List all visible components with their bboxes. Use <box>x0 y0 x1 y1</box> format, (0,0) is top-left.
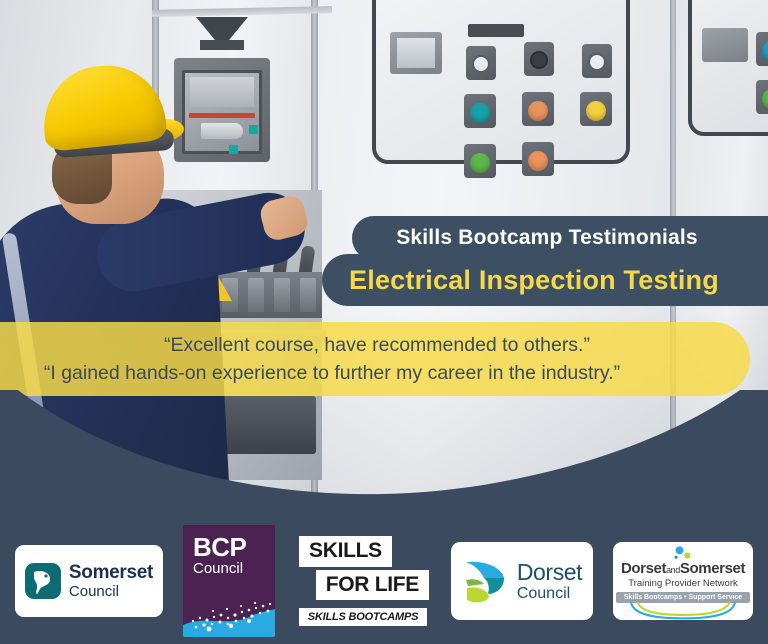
logo-row: Somerset Council BCP Council <box>0 527 768 635</box>
dorset-sub: Council <box>517 586 582 602</box>
dsn-title-a: Dorset <box>621 560 666 577</box>
testimonial-banner: “Excellent course, have recommended to o… <box>0 322 750 396</box>
logo-dorset-council[interactable]: Dorset Council <box>451 542 593 620</box>
dsn-title: DorsetandSomerset <box>621 561 745 576</box>
somerset-name: Somerset <box>69 563 153 582</box>
poster: Skills Bootcamp Testimonials Electrical … <box>0 0 768 644</box>
decorative-wave <box>0 390 768 530</box>
somerset-sub: Council <box>69 584 153 599</box>
bcp-wave-icon <box>183 591 275 637</box>
dsn-subtitle: Training Provider Network <box>628 578 737 589</box>
logo-somerset-council[interactable]: Somerset Council <box>15 545 163 617</box>
logo-skills-for-life[interactable]: SKILLS FOR LIFE SKILLS BOOTCAMPS <box>295 535 431 627</box>
sfl-line-2: FOR LIFE <box>316 570 429 601</box>
dsn-swoosh-icon <box>617 601 749 620</box>
wave-navy-fill <box>0 390 768 530</box>
sfl-line-1: SKILLS <box>299 536 392 567</box>
bcp-name: BCP <box>193 534 246 560</box>
title-line-2: Electrical Inspection Testing <box>349 265 741 296</box>
dsn-title-b: Somerset <box>680 560 745 577</box>
dorset-landscape-icon <box>462 556 510 606</box>
logo-bcp-council[interactable]: BCP Council <box>183 525 275 637</box>
bcp-sub: Council <box>193 561 243 578</box>
testimonial-quote-1: “Excellent course, have recommended to o… <box>74 331 590 359</box>
title-bar-secondary: Electrical Inspection Testing <box>322 254 768 306</box>
dsn-title-and: and <box>666 565 680 575</box>
dorset-name: Dorset <box>517 561 582 584</box>
logo-dorset-somerset-tpn[interactable]: DorsetandSomerset Training Provider Netw… <box>613 542 753 620</box>
testimonial-quote-2: “I gained hands-on experience to further… <box>44 359 620 387</box>
dsn-dots-icon <box>670 546 696 560</box>
sfl-subtitle: SKILLS BOOTCAMPS <box>299 608 427 626</box>
title-line-1: Skills Bootcamp Testimonials <box>396 226 724 250</box>
somerset-dragon-icon <box>25 563 61 599</box>
